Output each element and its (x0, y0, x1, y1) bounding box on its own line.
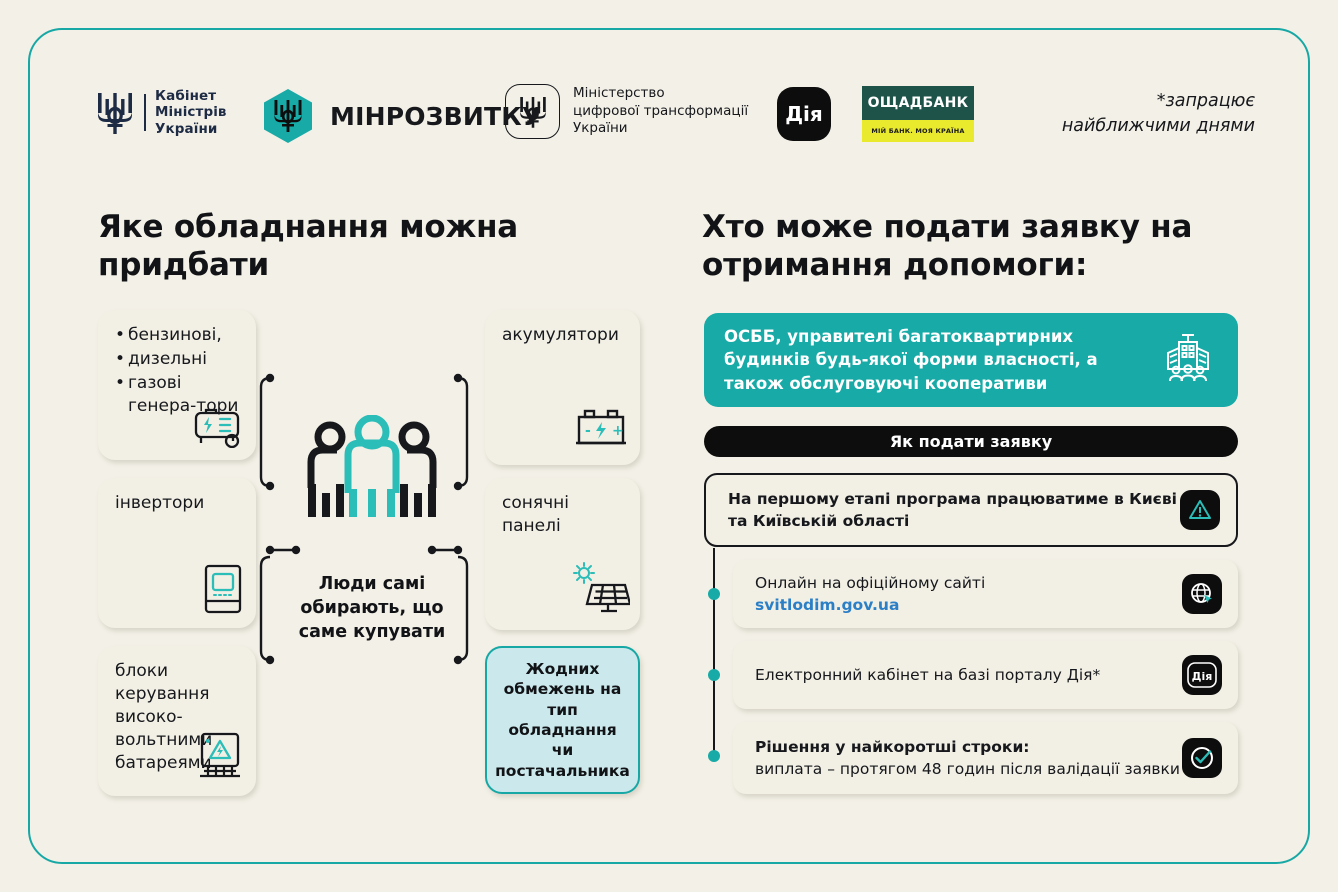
logo-cabinet-label: Кабінет Міністрів України (155, 88, 227, 137)
solar-panel-icon (568, 560, 630, 622)
check-circle-icon (1182, 738, 1222, 778)
logo-ministry-digital-transformation: Міністерство цифрової трансформації Укра… (505, 84, 748, 139)
card-solar-label: сонячні панелі (502, 492, 630, 538)
website-link[interactable]: svitlodim.gov.ua (755, 596, 899, 614)
logo-oschadbank: ОЩАДБАНК МІЙ БАНК. МОЯ КРАЇНА (862, 86, 974, 142)
card-batteries-label: акумулятори (502, 324, 630, 347)
trident-icon (95, 90, 135, 136)
svg-text:+: + (612, 423, 624, 439)
list-item: дизельні (128, 348, 246, 371)
hexagon-badge (260, 88, 316, 144)
svg-text:-: - (585, 423, 591, 439)
inverter-icon (200, 562, 246, 620)
step-decision-time: Рішення у найкоротші строки: виплата – п… (733, 722, 1238, 794)
car-battery-icon: - + (572, 405, 630, 457)
step-diia-cabinet-text: Електронний кабінет на базі порталу Дія* (755, 664, 1182, 686)
card-battery-management[interactable]: блоки керування високо-вольтними батарея… (98, 646, 256, 796)
apartment-building-icon (1160, 331, 1216, 389)
card-generators[interactable]: бензинові, дизельні газові генера-тори (98, 310, 256, 460)
logo-divider (144, 94, 146, 131)
oschadbank-name: ОЩАДБАНК (862, 86, 974, 120)
people-caption: Люди самі обирають, що саме купувати (286, 572, 458, 644)
logo-cabinet-of-ministers: Кабінет Міністрів України (95, 88, 227, 137)
header-logos: Кабінет Міністрів України (95, 80, 1255, 155)
card-inverters[interactable]: інвертори (98, 478, 256, 628)
logo-mcd-label: Міністерство цифрової трансформації Укра… (573, 85, 748, 139)
infographic-page: Кабінет Міністрів України (0, 0, 1338, 892)
battery-control-icon (194, 730, 246, 788)
how-to-apply-bar: Як подати заявку (704, 426, 1238, 457)
card-batteries[interactable]: акумулятори - + (485, 310, 640, 465)
list-item: бензинові, (128, 324, 246, 347)
eligible-applicants-text: ОСББ, управителі багатоквартирних будинк… (724, 325, 1160, 395)
step-diia-cabinet[interactable]: Електронний кабінет на базі порталу Дія*… (733, 641, 1238, 709)
card-inverters-label: інвертори (115, 492, 246, 515)
card-no-limits-text: Жодних обмежень на тип обладнання чи пос… (487, 659, 638, 782)
right-section-title: Хто може подати заявку на отримання допо… (702, 208, 1222, 284)
card-no-limits: Жодних обмежень на тип обладнання чи пос… (485, 646, 640, 794)
step-online-website[interactable]: Онлайн на офіційному сайті svitlodim.gov… (733, 560, 1238, 628)
globe-icon (1182, 574, 1222, 614)
connector-lines (250, 300, 500, 810)
people-icon (292, 415, 452, 545)
logo-diia: Дія (777, 87, 831, 141)
hexagon-trident-icon (260, 88, 316, 144)
left-section-title: Яке обладнання можна придбати (98, 208, 578, 284)
step-decision-time-text: Рішення у найкоротші строки: виплата – п… (755, 736, 1182, 780)
mcd-trident-box (505, 84, 560, 139)
oschadbank-slogan: МІЙ БАНК. МОЯ КРАЇНА (862, 120, 974, 142)
footnote-note: *запрацює найближчими днями (995, 89, 1255, 140)
svg-text:Дія: Дія (1192, 670, 1213, 683)
step-first-stage-text: На першому етапі програма працюватиме в … (728, 488, 1180, 532)
diia-icon: Дія (1182, 655, 1222, 695)
step-online-website-text: Онлайн на офіційному сайті svitlodim.gov… (755, 572, 1182, 616)
step-online-label: Онлайн на офіційному сайті (755, 574, 985, 592)
card-solar-panels[interactable]: сонячні панелі (485, 478, 640, 630)
step-first-stage: На першому етапі програма працюватиме в … (704, 473, 1238, 547)
trident-outline-icon (518, 94, 548, 130)
generator-icon (190, 404, 246, 452)
warning-icon (1180, 490, 1220, 530)
step-decision-detail: виплата – протягом 48 годин після валіда… (755, 760, 1180, 778)
eligible-applicants-card: ОСББ, управителі багатоквартирних будинк… (704, 313, 1238, 407)
logo-minrozvytku: МІНРОЗВИТКУ (260, 88, 541, 144)
step-decision-heading: Рішення у найкоротші строки: (755, 738, 1030, 756)
